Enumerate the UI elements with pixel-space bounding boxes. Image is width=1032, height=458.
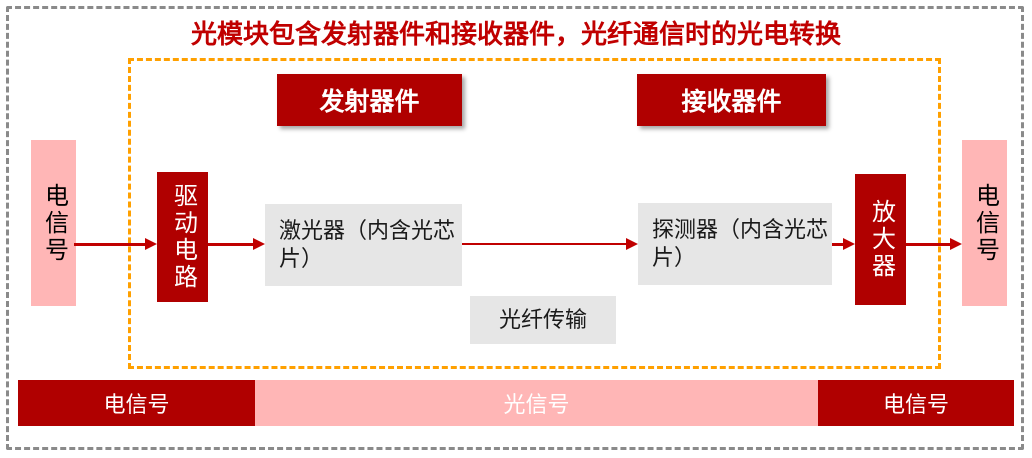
- signal-domain-legend: 电信号 光信号 电信号: [18, 380, 1014, 426]
- node-output-electrical-signal: 电信号: [962, 140, 1007, 306]
- diagram-canvas: 光模块包含发射器件和接收器件，光纤通信时的光电转换 发射器件 接收器件 电信号 …: [0, 0, 1032, 458]
- section-label-receiver: 接收器件: [637, 74, 826, 126]
- legend-segment-electrical-right: 电信号: [818, 380, 1014, 426]
- node-fiber-transmission: 光纤传输: [470, 296, 616, 344]
- node-driver-circuit: 驱动电路: [157, 172, 208, 302]
- diagram-title: 光模块包含发射器件和接收器件，光纤通信时的光电转换: [0, 14, 1032, 51]
- node-detector: 探测器（内含光芯片）: [638, 203, 832, 285]
- legend-segment-electrical-left: 电信号: [18, 380, 255, 426]
- node-amplifier: 放大器: [855, 174, 906, 305]
- node-laser: 激光器（内含光芯片）: [265, 204, 462, 286]
- legend-segment-optical: 光信号: [255, 380, 818, 426]
- node-input-electrical-signal: 电信号: [31, 140, 76, 306]
- section-label-transmitter: 发射器件: [277, 74, 462, 126]
